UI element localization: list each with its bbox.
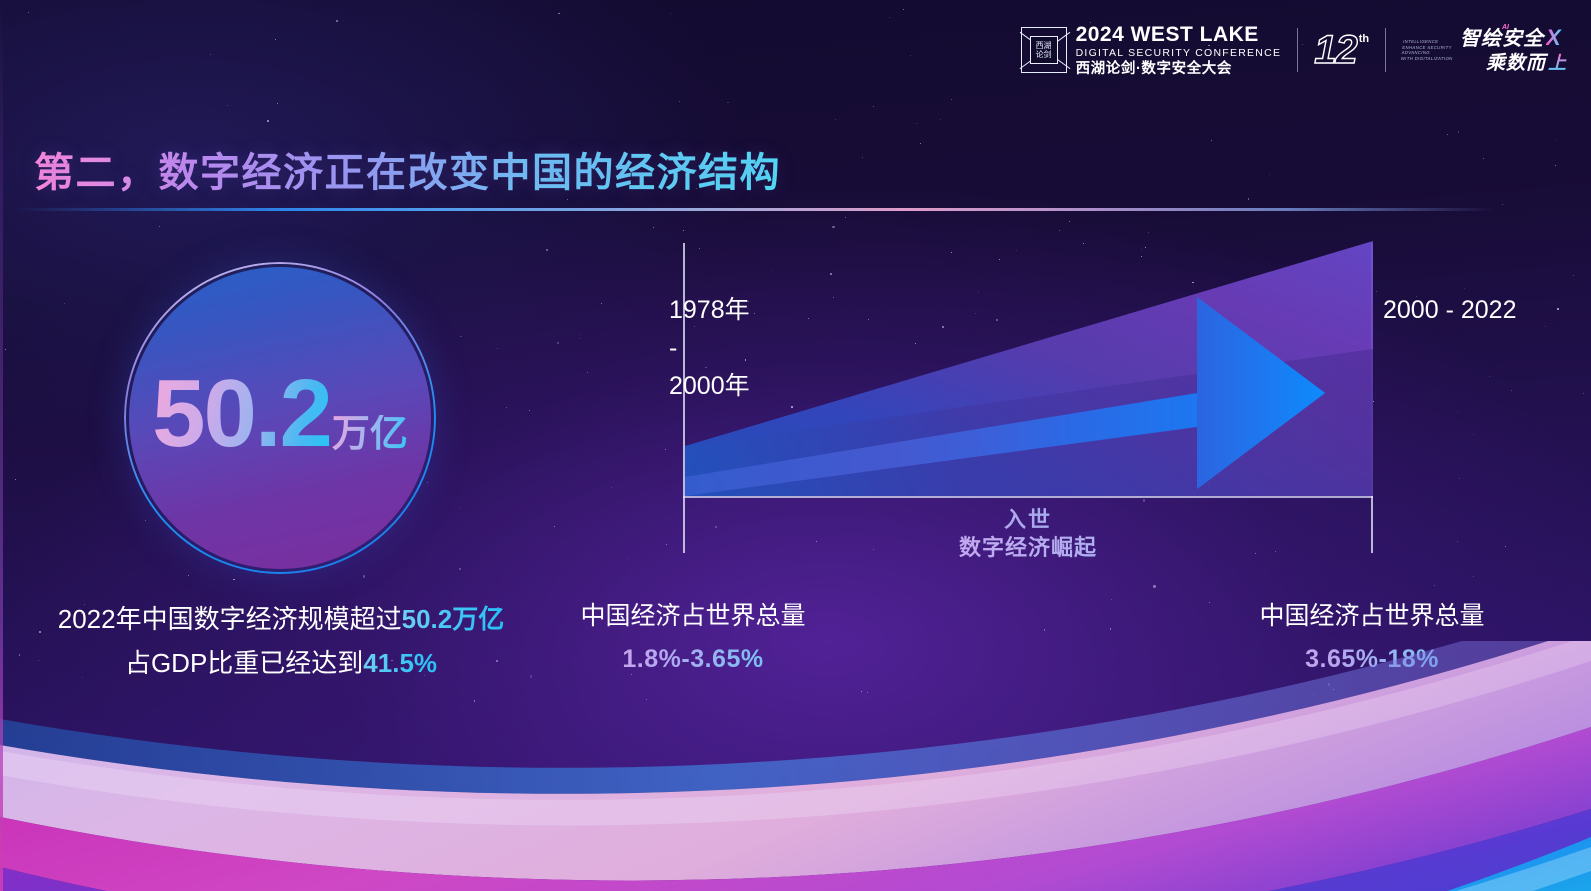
caption-middle-label: 中国经济占世界总量 [548, 598, 838, 636]
caption-left-line1-text: 2022年中国数字经济规模超过 [58, 604, 402, 634]
period-left-dash: - [669, 329, 750, 367]
theme-chinese-block: AI 智绘安全X 乘数而上 [1460, 27, 1567, 73]
conference-title-en: 2024 WEST LAKE [1076, 24, 1282, 45]
logo-divider-2 [1385, 28, 1386, 72]
theme-en-1: INTELLIGENCE [1403, 39, 1456, 45]
theme-en-4: WITH DIGITALIZATION [1401, 56, 1454, 62]
period-left-start: 1978年 [669, 296, 750, 324]
caption-right: 中国经济占世界总量 3.65%-18% [1222, 598, 1522, 682]
conference-logo-bar: 西湖 论剑 2024 WEST LAKE DIGITAL SECURITY CO… [1021, 22, 1567, 78]
period-right-dash: - [1446, 296, 1454, 324]
edition-number: 12 [1314, 31, 1357, 69]
emblem-char-bottom: 论剑 [1032, 50, 1056, 59]
title-divider [16, 208, 1496, 211]
west-lake-emblem-icon: 西湖 论剑 [1021, 27, 1067, 73]
growth-arrow-chart: 1978年 - 2000年 2000 - 2022 入世 数字经济崛起 [683, 243, 1373, 553]
caption-left-line1: 2022年中国数字经济规模超过50.2万亿 [36, 600, 526, 639]
theme-row1-text: 智绘安全 [1460, 28, 1544, 50]
theme-row-1: 智绘安全X [1460, 27, 1567, 49]
caption-middle-value: 1.8%-3.65% [548, 636, 838, 682]
theme-en-2: ENHANCE SECURITY [1402, 44, 1455, 50]
theme-row-2: 乘数而上 [1486, 54, 1567, 73]
chart-annotation: 入世 数字经济崛起 [683, 506, 1373, 563]
growth-wedge-and-arrow [685, 241, 1373, 496]
edition-badge: 12 th [1314, 31, 1369, 69]
edition-suffix: th [1359, 33, 1369, 45]
left-edge-accent [0, 0, 3, 891]
ai-tag-label: AI [1502, 24, 1509, 31]
period-right-end: 2022 [1461, 296, 1517, 324]
logo-divider-1 [1297, 28, 1298, 72]
annotation-line-1: 入世 [683, 506, 1373, 534]
caption-middle: 中国经济占世界总量 1.8%-3.65% [548, 598, 838, 682]
theme-slogan-logo: INTELLIGENCE ENHANCE SECURITY ADVANCING … [1402, 27, 1567, 73]
period-right-start: 2000 [1383, 296, 1439, 324]
theme-en-3: ADVANCING [1401, 50, 1454, 56]
caption-left-line2: 占GDP比重已经达到41.5% [36, 639, 526, 687]
theme-up-char: 上 [1548, 53, 1567, 73]
page-title: 第二，数字经济正在改变中国的经济结构 [34, 140, 781, 198]
caption-right-label: 中国经济占世界总量 [1222, 598, 1522, 636]
caption-left-line2-text: 占GDP比重已经达到 [125, 648, 363, 678]
period-label-left: 1978年 - 2000年 [669, 291, 750, 405]
circle-ring-outline [124, 262, 436, 574]
caption-left: 2022年中国数字经济规模超过50.2万亿 占GDP比重已经达到41.5% [36, 600, 526, 687]
caption-left-line1-highlight: 50.2万亿 [402, 604, 505, 634]
emblem-inner-characters: 西湖 论剑 [1030, 36, 1058, 64]
conference-wordmark: 2024 WEST LAKE DIGITAL SECURITY CONFEREN… [1076, 24, 1282, 77]
conference-title-cn: 西湖论剑·数字安全大会 [1076, 62, 1282, 77]
caption-right-value: 3.65%-18% [1222, 636, 1522, 682]
conference-subtitle-en: DIGITAL SECURITY CONFERENCE [1076, 48, 1282, 59]
theme-english-lines: INTELLIGENCE ENHANCE SECURITY ADVANCING … [1401, 39, 1456, 61]
period-left-end: 2000年 [669, 372, 750, 400]
period-label-right: 2000 - 2022 [1383, 291, 1516, 329]
chart-baseline-axis [683, 496, 1373, 498]
west-lake-conference-logo: 西湖 论剑 2024 WEST LAKE DIGITAL SECURITY CO… [1021, 24, 1282, 77]
caption-left-line2-highlight: 41.5% [363, 648, 437, 678]
annotation-line-2: 数字经济崛起 [683, 533, 1373, 563]
slide-canvas: 西湖 论剑 2024 WEST LAKE DIGITAL SECURITY CO… [0, 0, 1591, 891]
theme-x-mark: X [1546, 25, 1562, 50]
digital-economy-circle-stat: 50.2 万亿 [124, 262, 436, 574]
emblem-char-top: 西湖 [1032, 41, 1056, 50]
theme-row2-text: 乘数而 [1486, 53, 1546, 74]
